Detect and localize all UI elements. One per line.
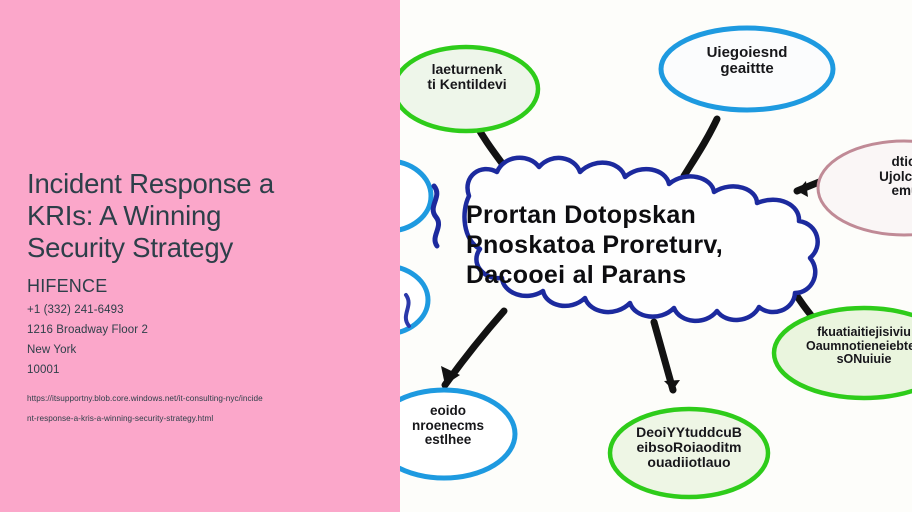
node-top-left-green <box>394 47 538 131</box>
node-bottom-center-green-ellipse <box>610 409 768 497</box>
street-address: 1216 Broadway Floor 2 <box>27 320 372 340</box>
squiggle-left-lower <box>406 295 409 326</box>
article-url-line-2: nt-response-a-kris-a-winning-security-st… <box>27 409 372 429</box>
postal-code: 10001 <box>27 360 372 380</box>
brand-name: HIFENCE <box>27 275 372 297</box>
panel-content: Incident Response a KRIs: A Winning Secu… <box>27 168 372 429</box>
ad-creative-canvas: Prortan Dotopskan Pnoskatoa Proreturv, D… <box>0 0 912 512</box>
node-bottom-center-green <box>610 409 768 497</box>
node-top-right-blue <box>661 28 833 110</box>
node-top-left-green-ellipse <box>394 47 538 131</box>
squiggle-accents-2 <box>406 295 409 326</box>
article-url-line-1: https://itsupportny.blob.core.windows.ne… <box>27 389 372 409</box>
city-name: New York <box>27 340 372 360</box>
left-info-panel: Incident Response a KRIs: A Winning Secu… <box>0 0 400 512</box>
phone-number: +1 (332) 241-6493 <box>27 300 372 320</box>
page-title: Incident Response a KRIs: A Winning Secu… <box>27 168 372 264</box>
article-url[interactable]: https://itsupportny.blob.core.windows.ne… <box>27 389 372 429</box>
node-top-right-blue-ellipse <box>661 28 833 110</box>
